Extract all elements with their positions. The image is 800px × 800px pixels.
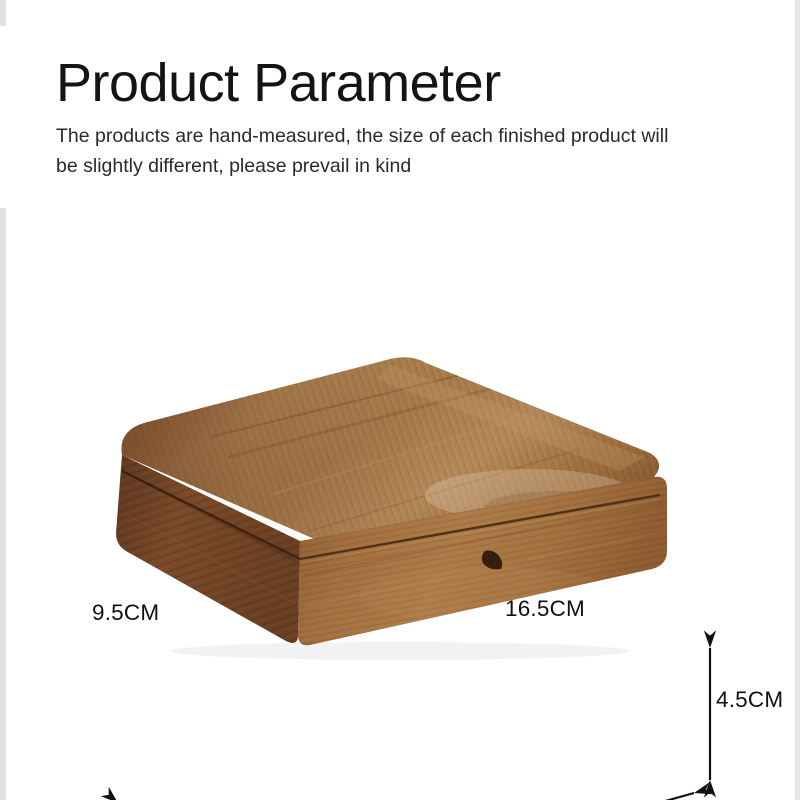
product-parameter-page: Product Parameter The products are hand-… bbox=[0, 0, 800, 800]
page-title: Product Parameter bbox=[56, 54, 716, 112]
decor-edge-strip-left-top bbox=[0, 0, 6, 26]
header-block: Product Parameter The products are hand-… bbox=[56, 54, 716, 182]
page-subtitle: The products are hand-measured, the size… bbox=[56, 122, 676, 181]
dimension-line-width bbox=[258, 793, 694, 800]
product-illustration-stage: 4.5CM bbox=[0, 250, 800, 730]
dimension-label-depth: 9.5CM bbox=[92, 600, 159, 626]
dimension-label-height: 4.5CM bbox=[716, 687, 783, 713]
dimension-label-width: 16.5CM bbox=[505, 596, 585, 622]
